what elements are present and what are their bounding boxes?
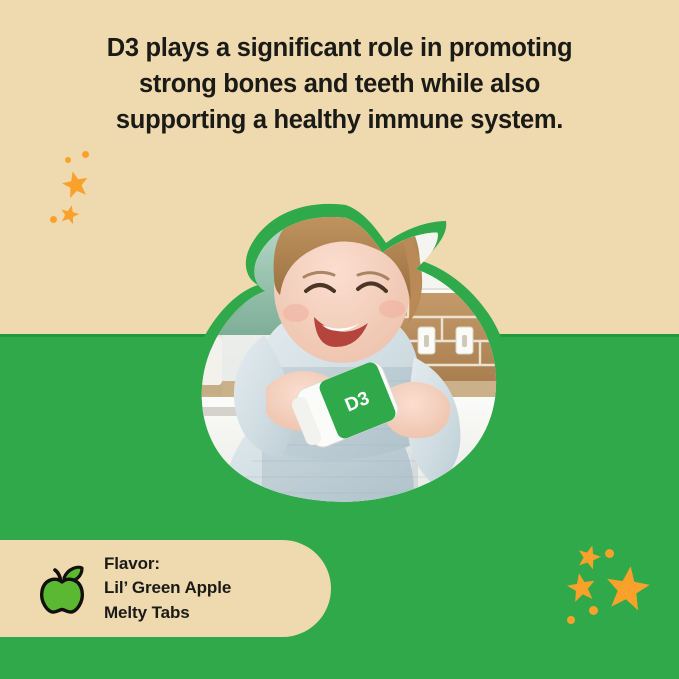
green-apple-icon [36,563,88,615]
headline: D3 plays a significant role in promoting… [0,30,679,138]
dot-icon [65,157,71,163]
dot-icon [82,151,89,158]
dot-icon [567,616,575,624]
promo-card: D3 plays a significant role in promoting… [0,0,679,679]
dot-icon [589,606,598,615]
headline-line-2: strong bones and teeth while also [44,66,635,102]
dot-icon [605,549,614,558]
flavor-value-line-2: Melty Tabs [104,601,231,626]
headline-line-1: D3 plays a significant role in promoting [44,30,635,66]
dot-icon [50,216,57,223]
product-lifestyle-photo: D3 [146,185,546,510]
flavor-value-line-1: Lil’ Green Apple [104,576,231,601]
flavor-badge: Flavor: Lil’ Green Apple Melty Tabs [0,540,331,637]
flavor-text-block: Flavor: Lil’ Green Apple Melty Tabs [104,552,231,626]
headline-line-3: supporting a healthy immune system. [44,102,635,138]
flavor-label: Flavor: [104,552,231,577]
